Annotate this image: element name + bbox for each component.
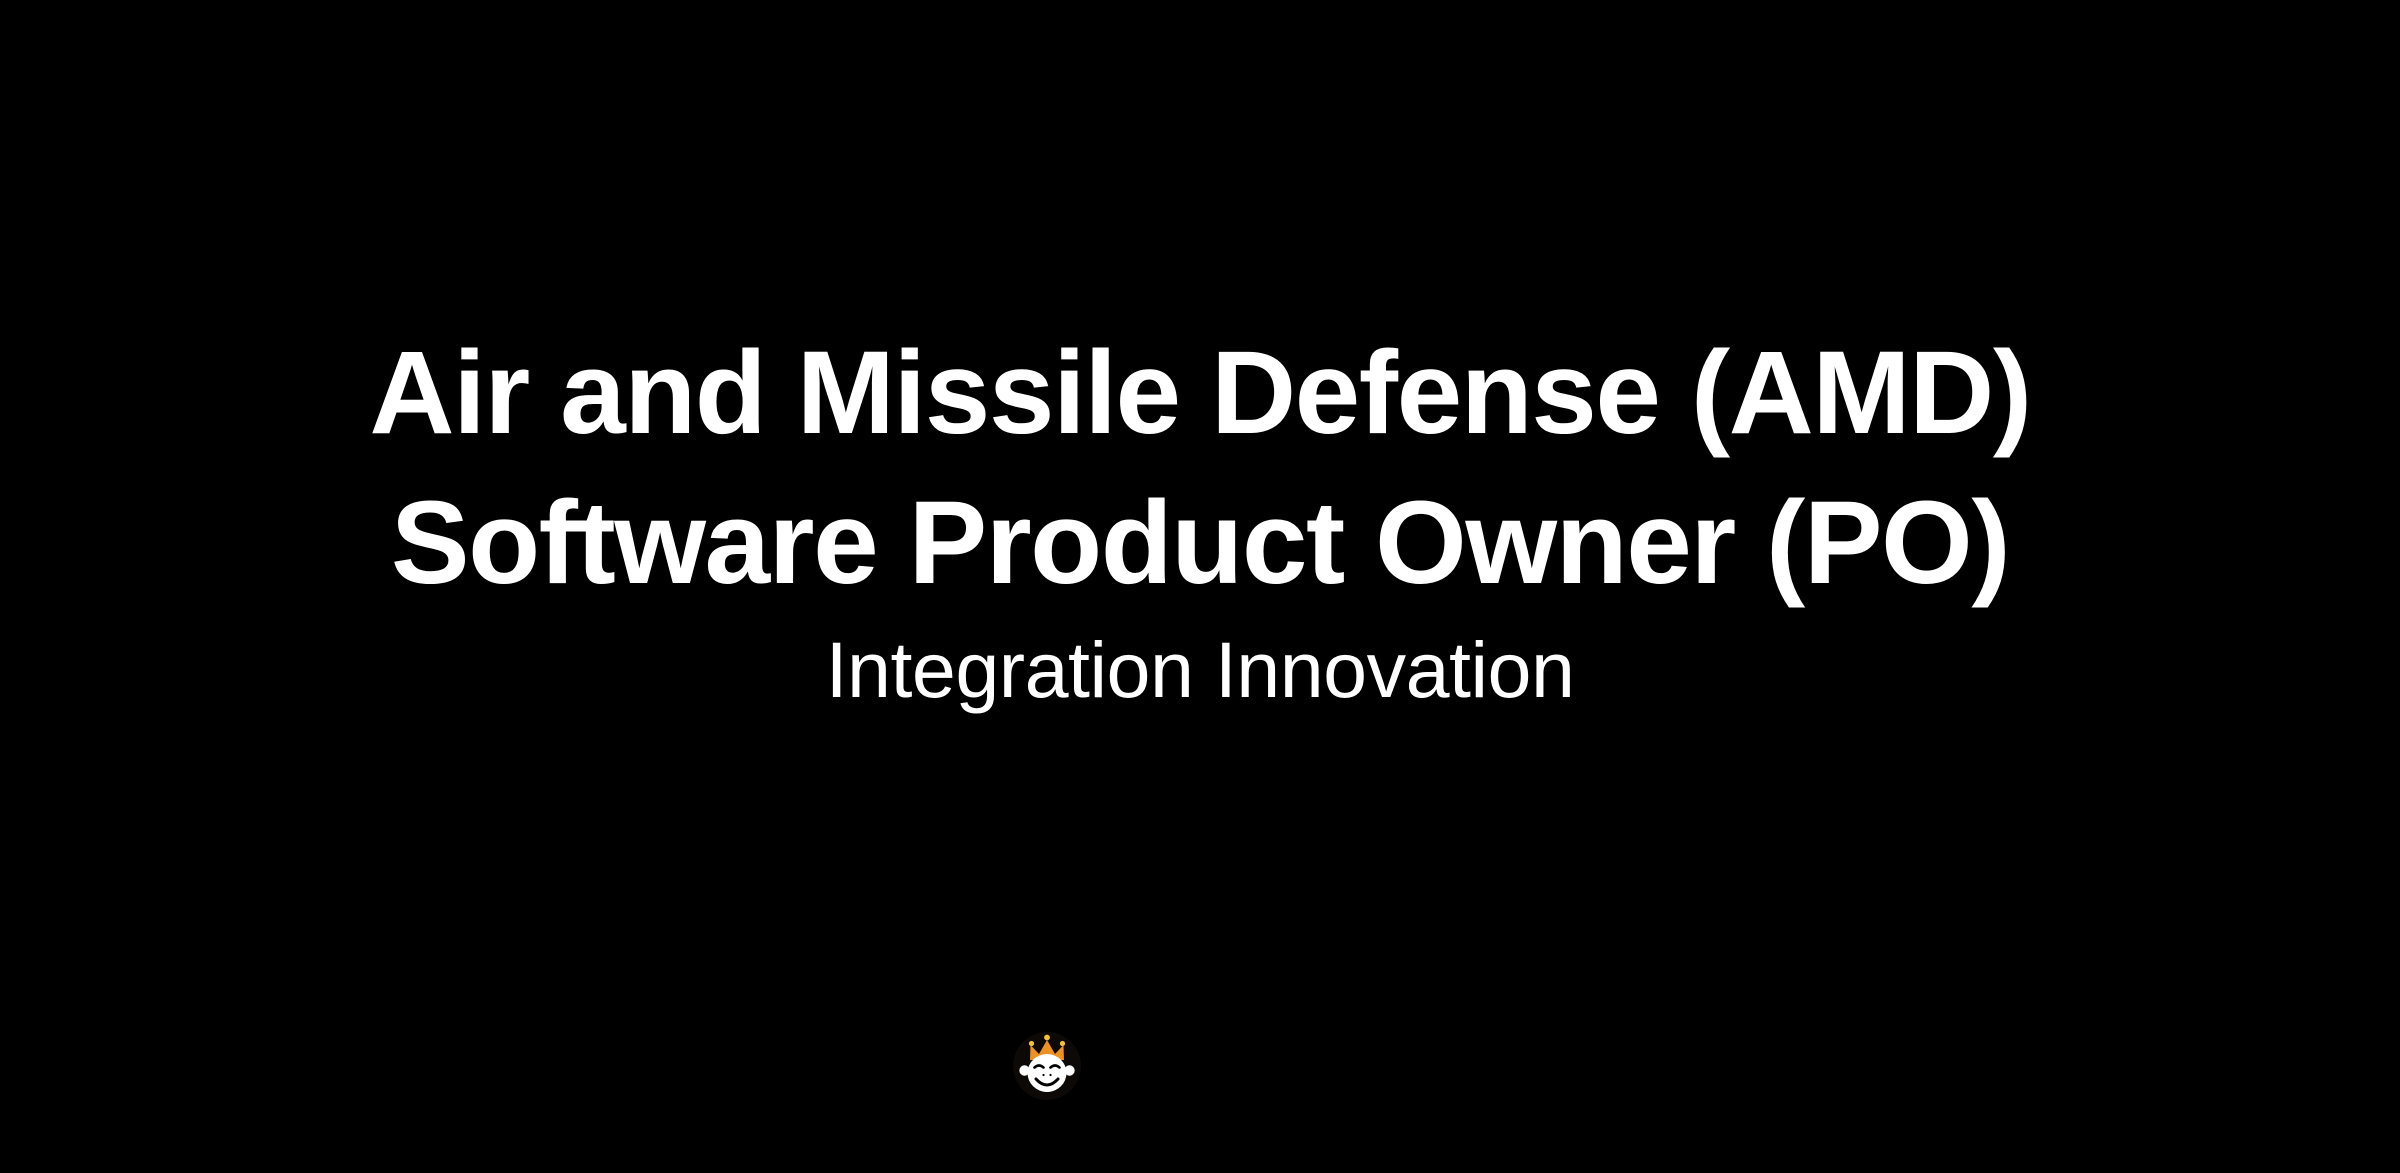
title-line-1: Air and Missile Defense (AMD) <box>0 318 2400 468</box>
crowned-monkey-logo <box>1008 1026 1086 1104</box>
page-subtitle: Integration Innovation <box>0 622 2400 718</box>
title-line-2: Software Product Owner (PO) <box>0 468 2400 618</box>
page-title: Air and Missile Defense (AMD) Software P… <box>0 318 2400 618</box>
title-slide: Air and Missile Defense (AMD) Software P… <box>0 0 2400 1173</box>
